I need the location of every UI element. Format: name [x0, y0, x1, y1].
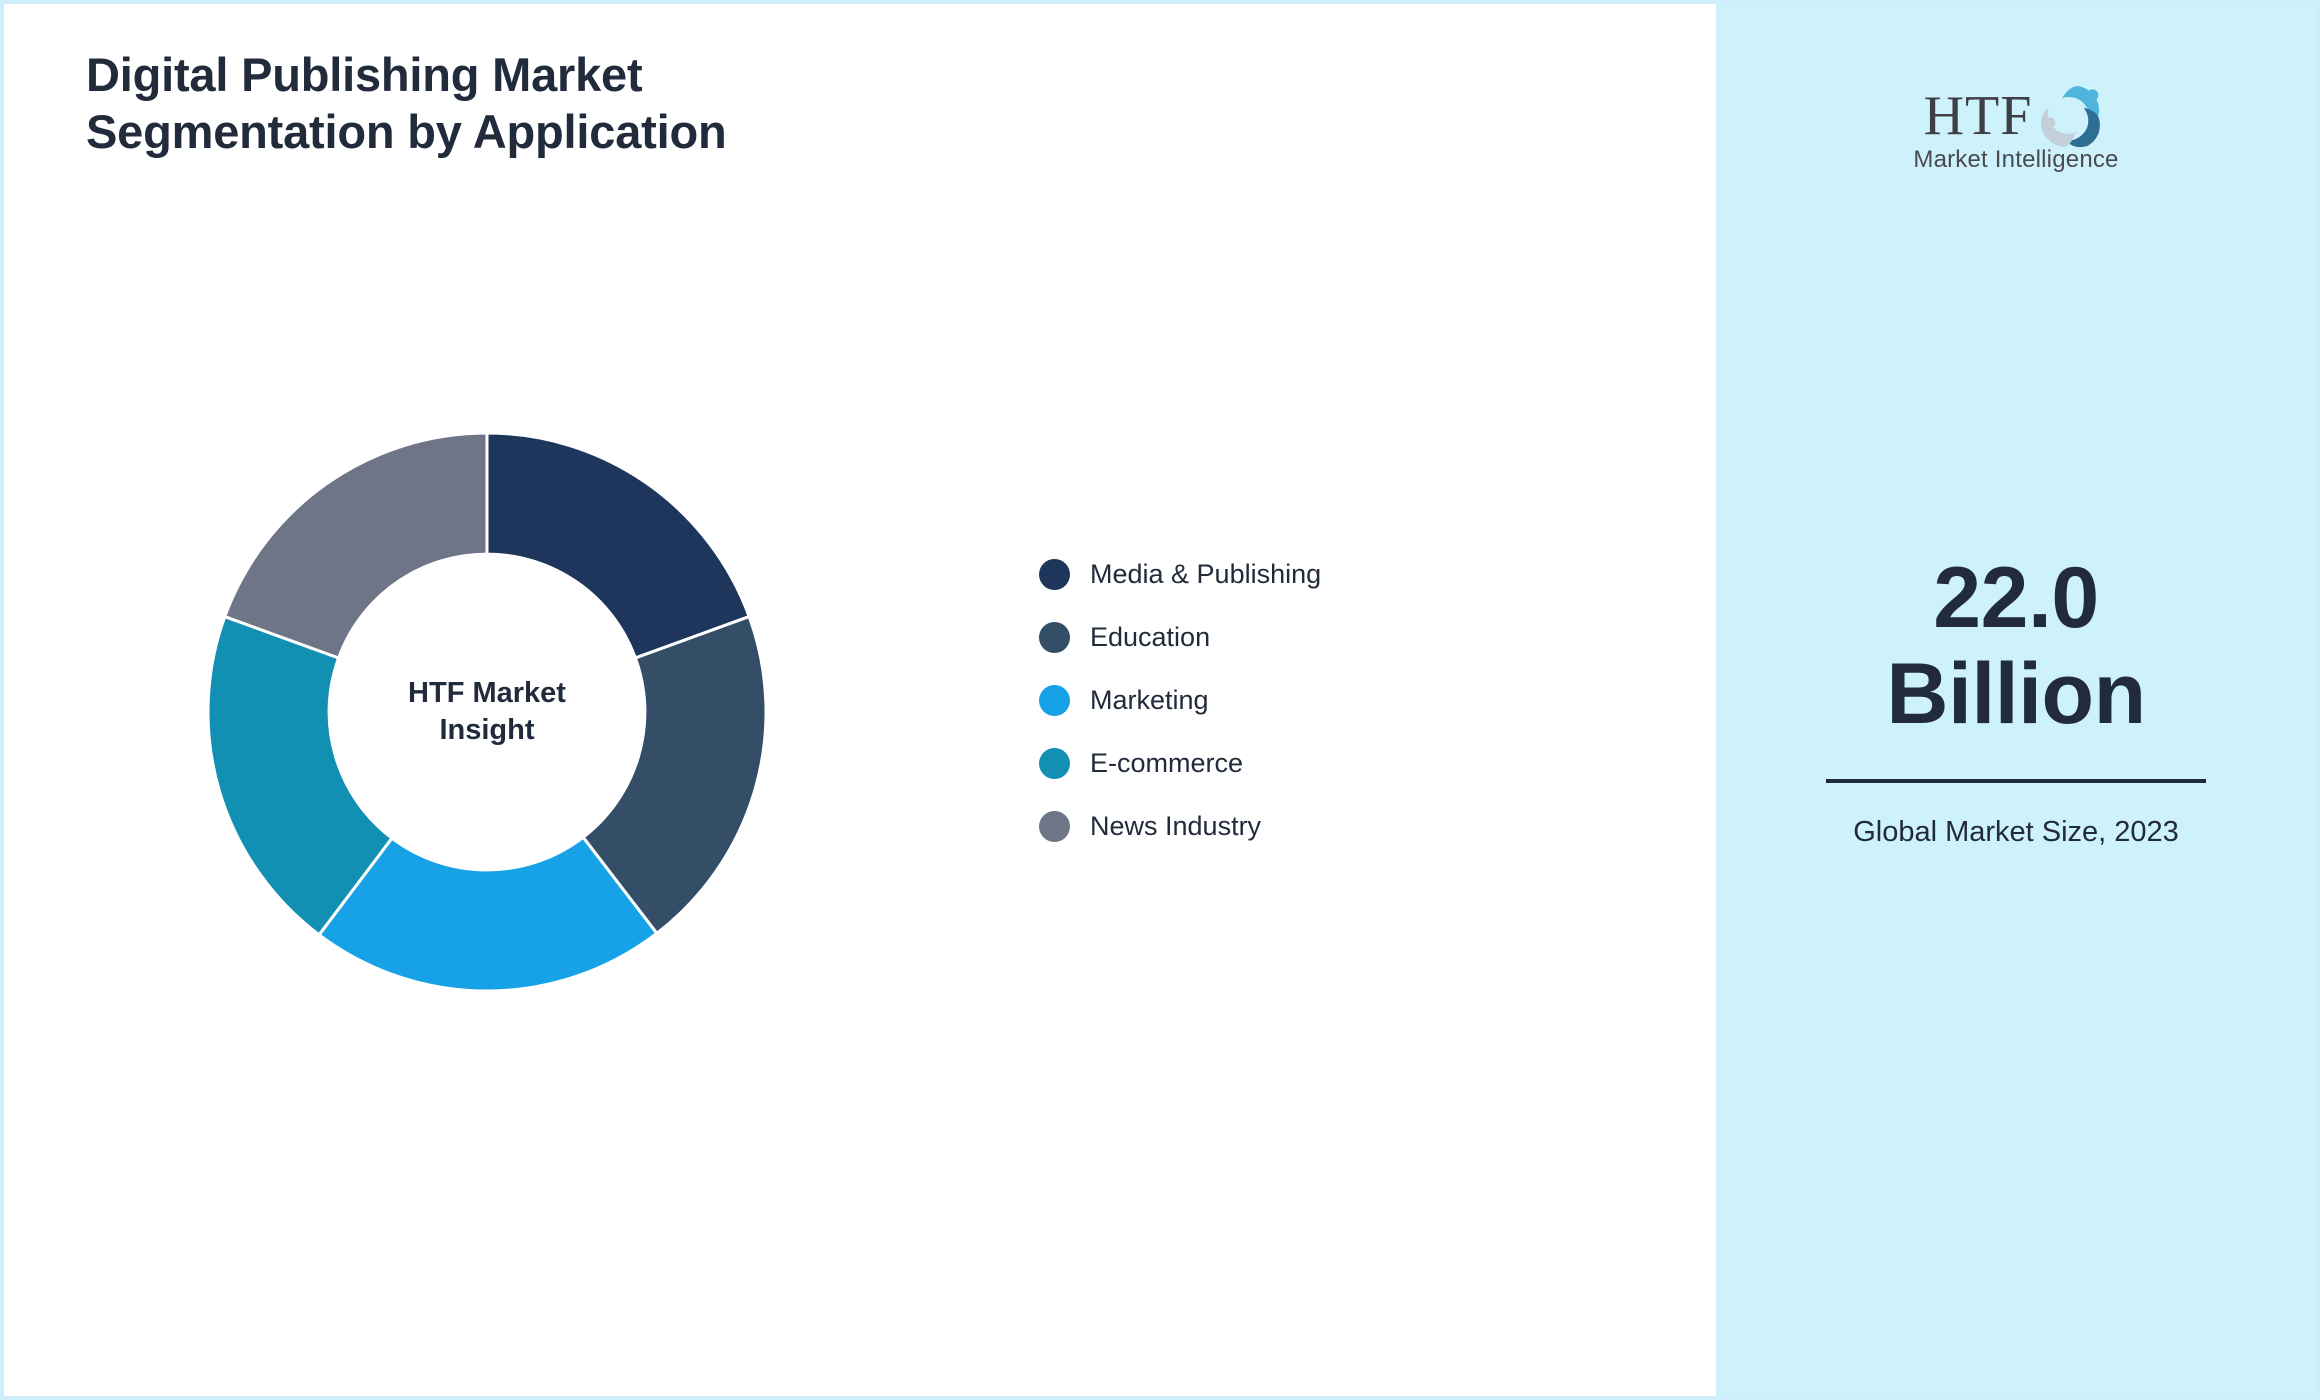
legend-item-label: Marketing	[1090, 687, 1209, 714]
donut-chart-svg	[207, 432, 767, 992]
donut-chart: HTF Market Insight	[207, 432, 767, 992]
logo-mark-row: HTF	[1924, 76, 2109, 144]
legend-swatch-icon	[1039, 622, 1070, 653]
legend-item[interactable]: News Industry	[1039, 807, 1321, 845]
chart-legend: Media & PublishingEducationMarketingE-co…	[1039, 555, 1321, 845]
legend-item[interactable]: Media & Publishing	[1039, 555, 1321, 593]
legend-item[interactable]: Education	[1039, 618, 1321, 656]
htf-logo: HTF Market Intelligence	[1716, 76, 2316, 174]
logo-emblem-icon	[2034, 76, 2108, 150]
stat-caption: Global Market Size, 2023	[1806, 813, 2226, 852]
donut-slice[interactable]	[225, 433, 487, 658]
logo-wordmark: HTF	[1924, 88, 2033, 144]
donut-slice[interactable]	[487, 433, 749, 658]
stat-value: 22.0 Billion	[1886, 550, 2145, 743]
legend-swatch-icon	[1039, 559, 1070, 590]
legend-item[interactable]: Marketing	[1039, 681, 1321, 719]
legend-swatch-icon	[1039, 748, 1070, 779]
legend-item-label: Education	[1090, 624, 1210, 651]
legend-swatch-icon	[1039, 811, 1070, 842]
stat-divider	[1826, 779, 2206, 783]
legend-item-label: News Industry	[1090, 813, 1261, 840]
legend-item[interactable]: E-commerce	[1039, 744, 1321, 782]
legend-swatch-icon	[1039, 685, 1070, 716]
stat-panel: HTF Market Intelligence 22.0 Billion Glo…	[1716, 4, 2316, 1396]
logo-tagline: Market Intelligence	[1913, 146, 2118, 174]
stat-block: 22.0 Billion Global Market Size, 2023	[1716, 550, 2316, 852]
legend-item-label: Media & Publishing	[1090, 561, 1321, 588]
legend-item-label: E-commerce	[1090, 750, 1243, 777]
donut-slice-group	[208, 433, 766, 991]
infographic-root: Digital Publishing Market Segmentation b…	[0, 0, 2320, 1400]
page-title: Digital Publishing Market Segmentation b…	[86, 46, 1086, 161]
chart-panel: Digital Publishing Market Segmentation b…	[4, 4, 1716, 1396]
